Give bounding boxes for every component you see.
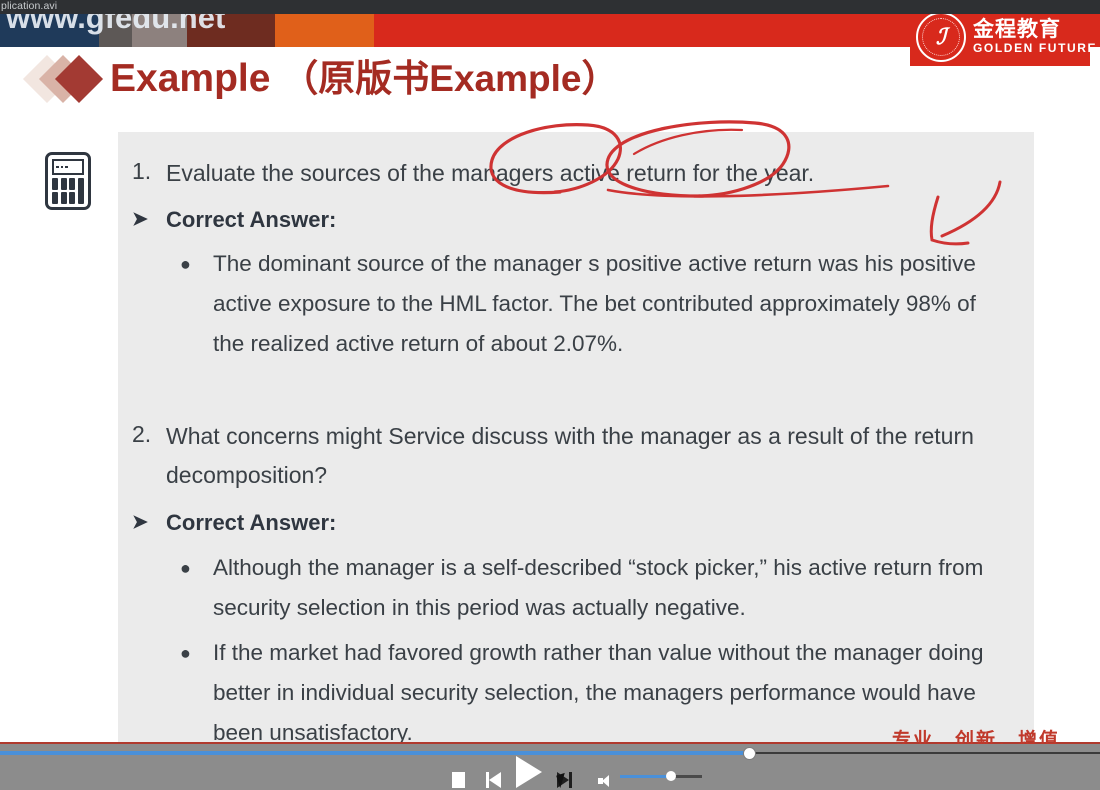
site-watermark: www.gfedu.net	[6, 14, 225, 36]
volume-slider[interactable]	[620, 771, 702, 781]
dot-bullet-icon-2: ●	[180, 548, 213, 588]
question-row-2: 2. What concerns might Service discuss w…	[132, 417, 1012, 495]
logo-seal-glyph: ℐ	[936, 26, 946, 48]
seek-bar[interactable]	[0, 750, 1100, 756]
seek-handle[interactable]	[743, 747, 756, 760]
diamond-bullet-icon	[28, 54, 106, 104]
answer-bullet-1-1: ● The dominant source of the manager s p…	[180, 244, 1000, 364]
player-controls	[0, 744, 1100, 790]
previous-icon	[486, 772, 502, 788]
logo-seal-icon: ℐ	[916, 14, 966, 62]
page-title: Example （原版书Example）	[110, 56, 618, 102]
slide-heading: Example （原版书Example）	[28, 54, 618, 104]
correct-answer-row-1: ➤ Correct Answer:	[132, 204, 992, 236]
answer-bullet-2-1: ● Although the manager is a self-describ…	[180, 548, 990, 628]
stop-button[interactable]	[452, 772, 465, 788]
answer-bullet-text-1-1: The dominant source of the manager s pos…	[213, 244, 1000, 364]
logo-wordmark: 金程教育 GOLDEN FUTURE	[973, 19, 1097, 55]
window-title: plication.avi	[1, 0, 57, 13]
page-title-chinese: （原版书Example）	[281, 58, 618, 99]
seek-fill	[0, 751, 748, 755]
question-text-1: Evaluate the sources of the managers act…	[166, 154, 814, 193]
slide-canvas: www.gfedu.net ℐ 金程教育 GOLDEN FUTURE Examp…	[0, 14, 1100, 744]
calculator-keys	[52, 178, 84, 204]
question-number-2: 2.	[132, 417, 166, 451]
answer-bullet-2-2: ● If the market had favored growth rathe…	[180, 633, 1015, 744]
volume-button[interactable]	[598, 774, 612, 788]
play-icon	[516, 756, 542, 788]
correct-answer-label-2: Correct Answer:	[166, 507, 336, 539]
volume-fill	[620, 775, 671, 778]
arrow-bullet-icon: ➤	[132, 204, 166, 236]
volume-handle[interactable]	[666, 771, 676, 781]
question-row-1: 1. Evaluate the sources of the managers …	[132, 154, 1012, 193]
correct-answer-row-2: ➤ Correct Answer:	[132, 507, 992, 539]
question-text-2: What concerns might Service discuss with…	[166, 417, 1012, 495]
stop-icon	[452, 772, 465, 788]
content-panel: 1. Evaluate the sources of the managers …	[118, 132, 1034, 744]
dot-bullet-icon: ●	[180, 244, 213, 284]
play-button[interactable]	[516, 756, 542, 788]
band-5	[275, 14, 374, 47]
calculator-screen	[52, 159, 84, 175]
video-player-window: plication.avi www.gfedu.net ℐ 金程教育 GOLDE…	[0, 0, 1100, 790]
calculator-icon	[45, 152, 91, 210]
player-title-bar: plication.avi	[0, 0, 1100, 14]
brand-logo: ℐ 金程教育 GOLDEN FUTURE	[910, 14, 1090, 66]
correct-answer-label-1: Correct Answer:	[166, 204, 336, 236]
answer-bullet-text-2-1: Although the manager is a self-described…	[213, 548, 990, 628]
arrow-bullet-icon-2: ➤	[132, 507, 166, 539]
logo-english-name: GOLDEN FUTURE	[973, 41, 1097, 55]
previous-button[interactable]	[486, 772, 502, 788]
logo-chinese-name: 金程教育	[973, 19, 1097, 41]
speaker-icon	[598, 774, 612, 788]
dot-bullet-icon-3: ●	[180, 633, 213, 673]
question-number-1: 1.	[132, 154, 166, 188]
footer-slogan: 专业．创新．增值	[892, 725, 1060, 744]
transport-buttons	[0, 760, 1100, 790]
page-title-main: Example	[110, 57, 270, 100]
